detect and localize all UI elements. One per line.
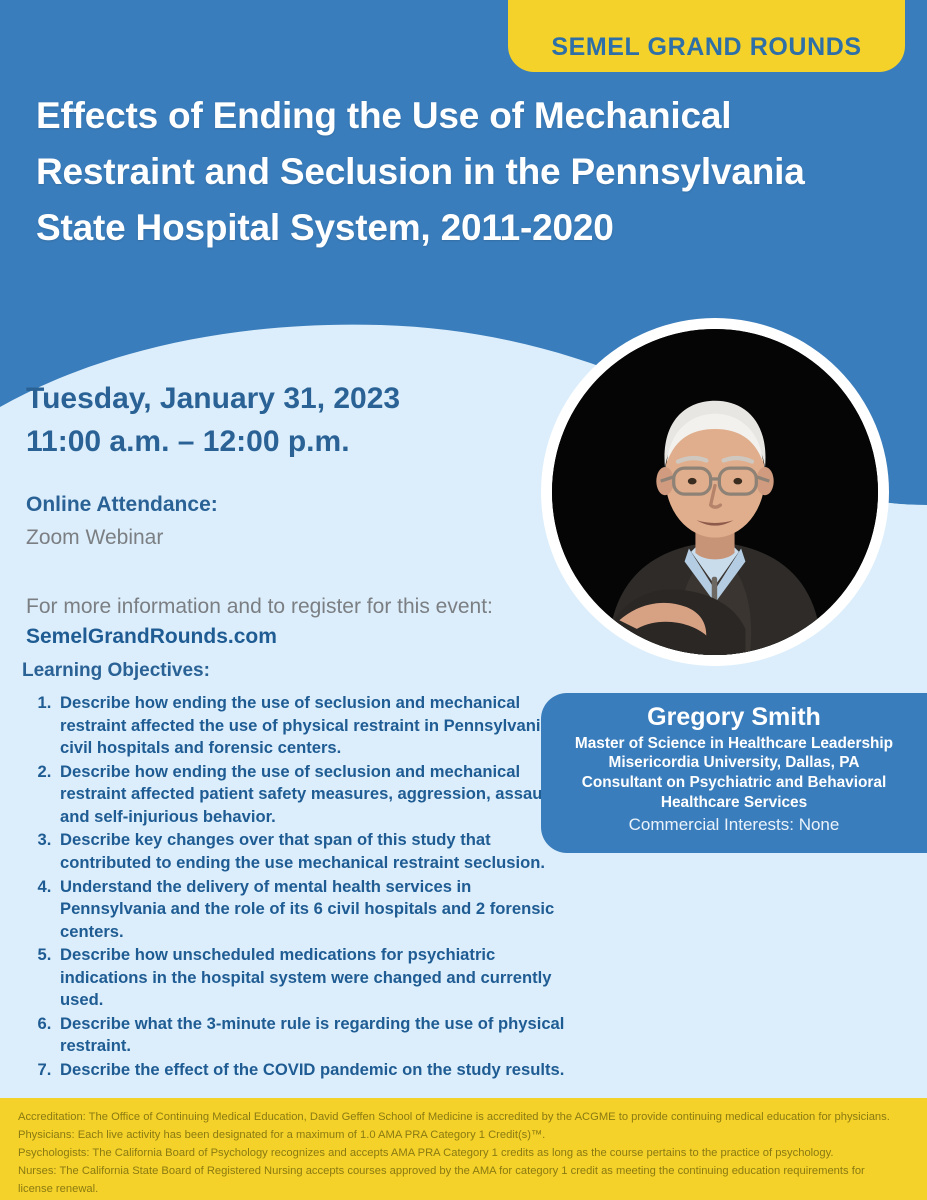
online-attendance-value: Zoom Webinar [26,526,163,550]
online-attendance-label: Online Attendance: [26,493,218,517]
learning-objective-item: Describe what the 3-minute rule is regar… [56,1013,576,1058]
speaker-info-card: Gregory Smith Master of Science in Healt… [541,693,927,853]
learning-objective-item: Describe how unscheduled medications for… [56,944,576,1012]
learning-objective-item: Describe the effect of the COVID pandemi… [56,1059,576,1082]
accreditation-footer: Accreditation: The Office of Continuing … [0,1098,927,1200]
speaker-photo-frame [541,318,889,666]
learning-objectives-heading: Learning Objectives: [22,660,210,682]
event-flyer: SEMEL GRAND ROUNDS Effects of Ending the… [0,0,927,1200]
footer-line-physicians: Physicians: Each live activity has been … [18,1128,913,1144]
speaker-commercial-interests: Commercial Interests: None [555,812,913,836]
learning-objective-item: Describe how ending the use of seclusion… [56,692,576,760]
event-datetime: Tuesday, January 31, 2023 11:00 a.m. – 1… [26,378,496,463]
registration-info: For more information and to register for… [26,592,496,652]
speaker-portrait-image [552,329,878,655]
portrait-illustration [552,329,878,655]
footer-line-nurses: Nurses: The California State Board of Re… [18,1164,913,1180]
speaker-credential-line-4: Healthcare Services [555,793,913,813]
event-time: 11:00 a.m. – 12:00 p.m. [26,421,496,464]
footer-line-psychologists: Psychologists: The California Board of P… [18,1146,913,1162]
banner-label: SEMEL GRAND ROUNDS [551,33,861,62]
learning-objective-item: Describe key changes over that span of t… [56,829,576,874]
page-title: Effects of Ending the Use of Mechanical … [36,88,836,257]
speaker-credential-line-3: Consultant on Psychiatric and Behavioral [555,773,913,793]
registration-link[interactable]: SemelGrandRounds.com [26,625,277,648]
learning-objective-item: Describe how ending the use of seclusion… [56,761,576,829]
event-date: Tuesday, January 31, 2023 [26,378,496,421]
learning-objectives-list: Describe how ending the use of seclusion… [30,692,576,1083]
footer-line-accreditation: Accreditation: The Office of Continuing … [18,1110,913,1126]
speaker-credential-line-2: Misericordia University, Dallas, PA [555,753,913,773]
semel-grand-rounds-banner: SEMEL GRAND ROUNDS [508,0,905,72]
footer-line-nurses-cont: license renewal. [18,1182,913,1198]
registration-prefix: For more information and to register for… [26,595,493,618]
speaker-credential-line-1: Master of Science in Healthcare Leadersh… [555,734,913,754]
learning-objective-item: Understand the delivery of mental health… [56,876,576,944]
speaker-name: Gregory Smith [555,701,913,734]
